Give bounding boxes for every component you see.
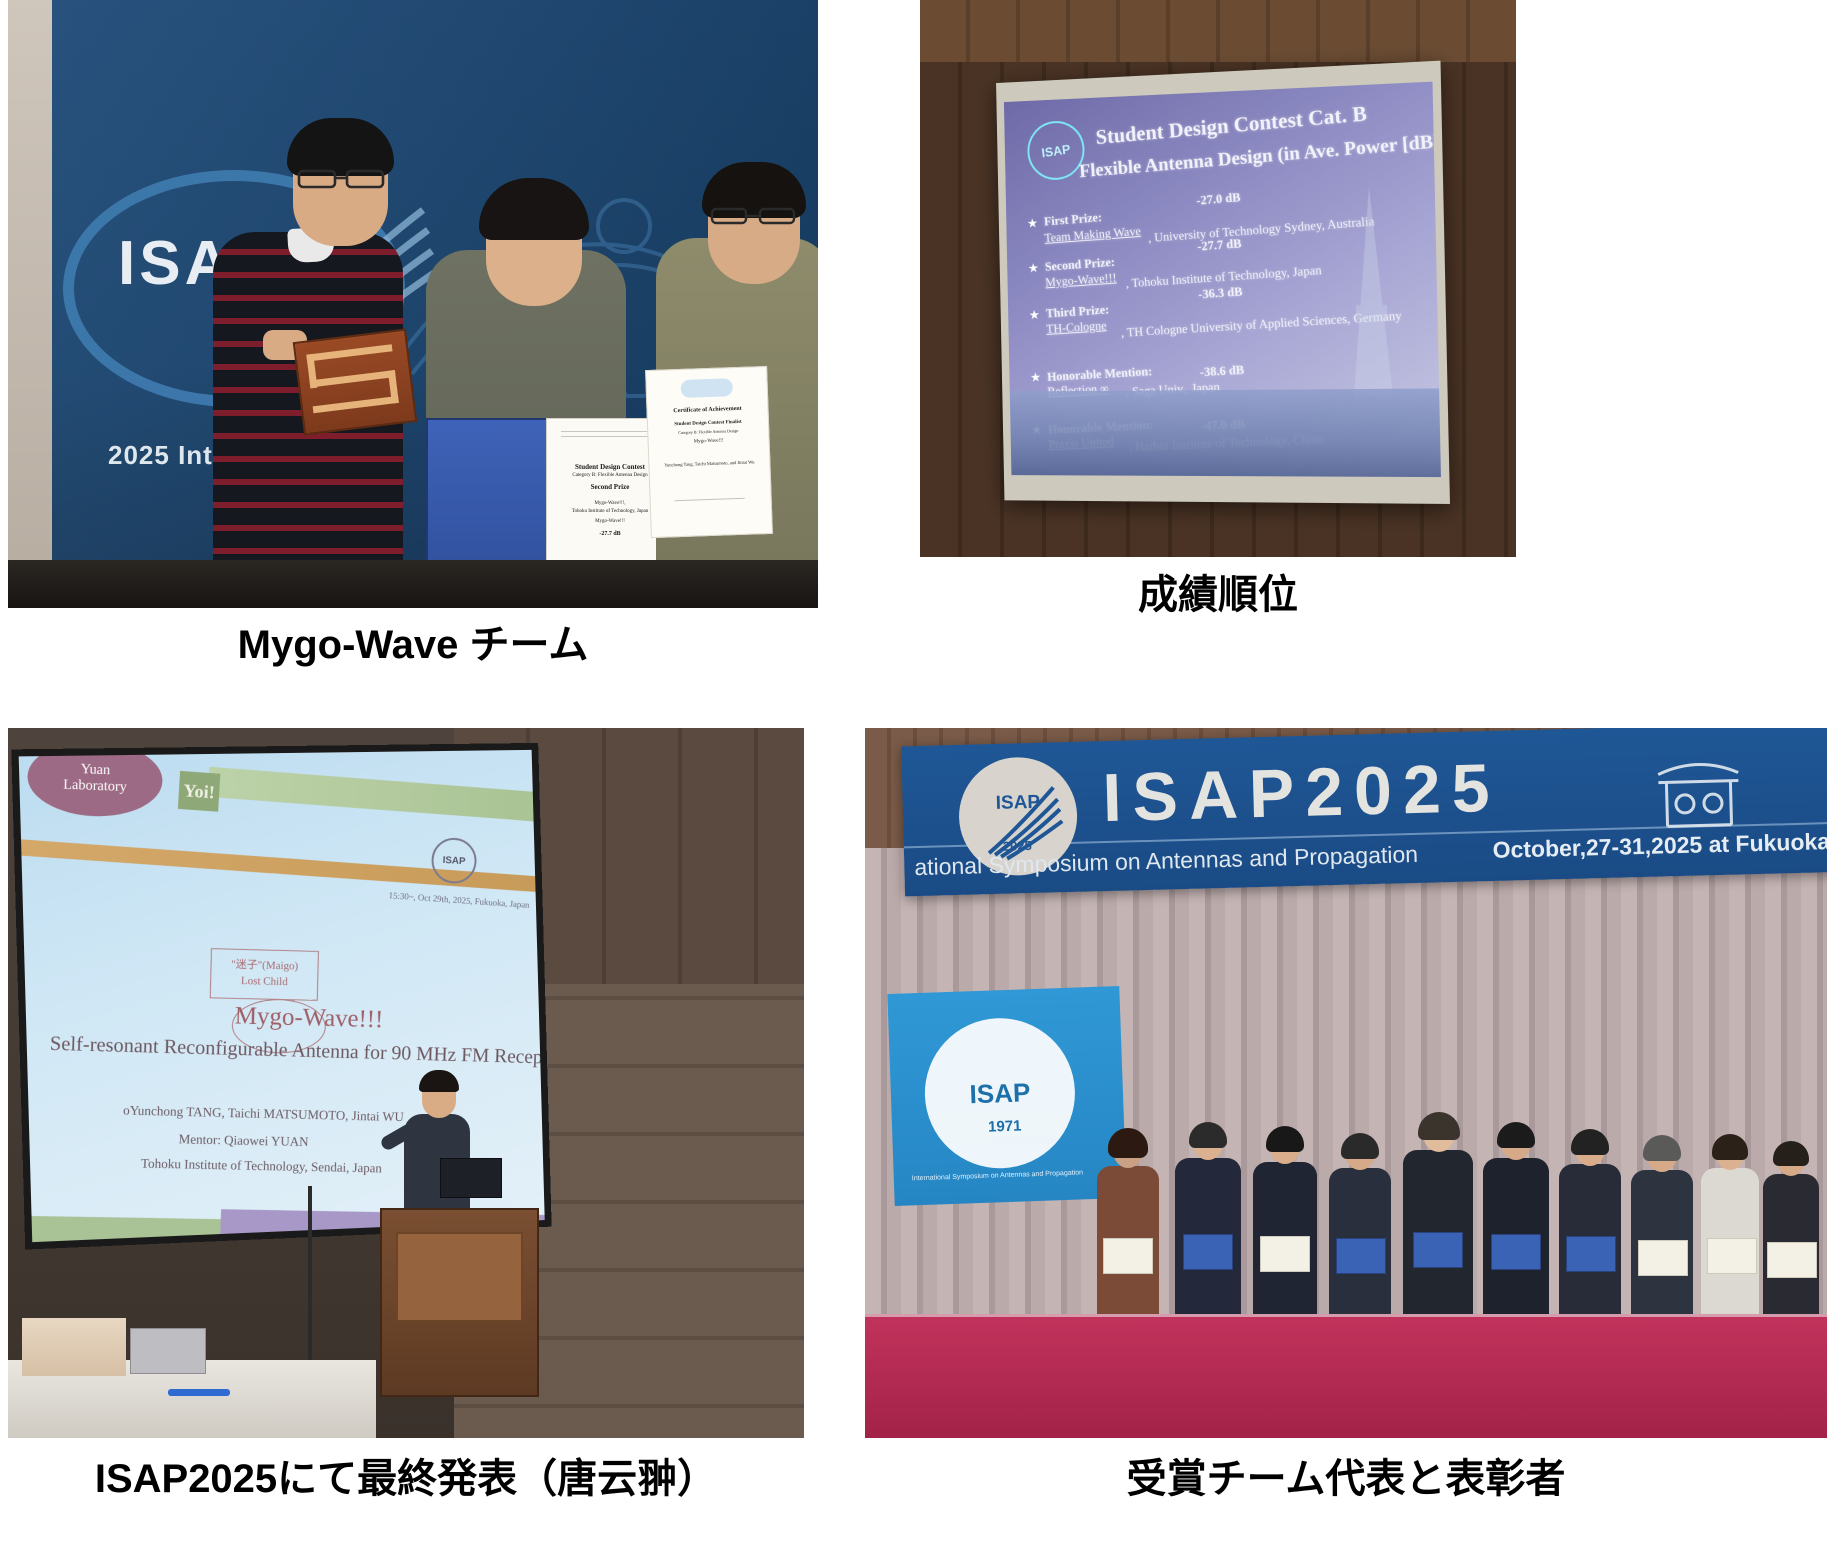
photo-results-projection: ISAP Student Design Contest Cat. B Flexi…	[920, 0, 1516, 557]
prize-1-value: -27.0 dB	[1196, 190, 1241, 208]
projection-screen: ISAP Student Design Contest Cat. B Flexi…	[996, 61, 1450, 504]
lab-name-line2: Laboratory	[63, 778, 127, 797]
slide-footer-green	[19, 1216, 252, 1243]
panel-presentation: Yuan Laboratory Yoi! ISAP 15:30~, Oct 29…	[8, 728, 804, 1548]
certificate-of-achievement: Certificate of Achievement Student Desig…	[645, 366, 773, 538]
isap-logo-icon: ISAP	[1024, 117, 1088, 184]
flexible-antenna-board	[293, 328, 418, 435]
slide-date-line: 15:30~, Oct 29th, 2025, Fukuoka, Japan	[389, 890, 530, 910]
eyeglasses-icon	[710, 206, 796, 226]
isap2025-banner: ISAP 2025 ISAP2025	[901, 728, 1827, 896]
isap-logo-text: ISAP	[442, 854, 465, 866]
podium-panel	[396, 1232, 523, 1322]
flag-logo-text: ISAP	[969, 1077, 1031, 1110]
table-laptop	[130, 1328, 206, 1374]
lab-name-line1: Yuan	[81, 762, 111, 779]
team-name: Mygo-Wave!!!	[234, 1002, 383, 1034]
caption-results-slide: 成績順位	[920, 562, 1516, 620]
caption-award-ceremony: 受賞チーム代表と表彰者	[865, 1446, 1827, 1504]
blue-object	[168, 1389, 230, 1396]
projection-screen-surface: ISAP Student Design Contest Cat. B Flexi…	[1004, 82, 1441, 477]
wood-ceiling-trim	[920, 0, 1516, 62]
photo-collage-grid: ISAP 2025 International	[0, 0, 1827, 1551]
yoi-logo-icon: Yoi!	[178, 771, 221, 812]
stage-floor	[865, 1314, 1827, 1438]
front-table	[8, 1360, 376, 1438]
yoi-logo-text: Yoi!	[183, 780, 215, 803]
maigo-line2: Lost Child	[241, 974, 288, 991]
wall-left	[8, 0, 52, 608]
prize-4-value: -38.6 dB	[1199, 363, 1244, 380]
star-icon: ★	[1027, 260, 1039, 276]
tripod-stand	[308, 1186, 312, 1366]
photo-award-ceremony: ISAP 2025 ISAP2025	[865, 728, 1827, 1438]
stage-edge-line	[865, 1314, 1827, 1317]
caption-presentation: ISAP2025にて最終発表（唐云翀）	[8, 1446, 804, 1504]
eyeglasses-icon	[297, 168, 385, 190]
floor	[8, 560, 818, 608]
maigo-line1: "迷子"(Maigo)	[231, 958, 298, 976]
star-icon: ★	[1027, 215, 1039, 231]
podium	[380, 1208, 539, 1397]
prize-2-value: -27.7 dB	[1197, 236, 1242, 254]
slide-authors: oYunchong TANG, Taichi MATSUMOTO, Jintai…	[123, 1102, 404, 1125]
cert-r-line-4: Mygo-Wave!!!	[649, 437, 769, 446]
city-photo-strip	[1010, 388, 1441, 477]
panel-team-photo: ISAP 2025 International	[8, 0, 818, 700]
banner-title: ISAP2025	[1102, 749, 1502, 837]
prize-3-team: TH-Cologne	[1046, 318, 1107, 336]
prize-3-value: -36.3 dB	[1198, 284, 1243, 302]
certificate-seal-icon	[680, 378, 733, 398]
cert-r-line-3: Category B: Flexible Antenna Design	[648, 427, 768, 436]
panel-award-ceremony: ISAP 2025 ISAP2025	[865, 728, 1827, 1548]
presenter-laptop	[440, 1158, 502, 1198]
slide-band-green	[208, 766, 545, 823]
caption-team-photo: Mygo-Wave チーム	[8, 612, 818, 670]
photo-final-presentation: Yuan Laboratory Yoi! ISAP 15:30~, Oct 29…	[8, 728, 804, 1438]
slide-affiliation: Tohoku Institute of Technology, Sendai, …	[141, 1155, 382, 1176]
isap-flag: ISAP 1971 International Symposium on Ant…	[887, 986, 1126, 1206]
panel-results-slide: ISAP Student Design Contest Cat. B Flexi…	[920, 0, 1516, 700]
foam-block	[22, 1318, 126, 1376]
photo-team-with-certificates: ISAP 2025 International	[8, 0, 818, 608]
banner-date: October,27-31,2025 at Fukuoka	[1492, 828, 1827, 864]
cert-r-line-1: Certificate of Achievement	[647, 405, 767, 415]
flag-logo-icon: ISAP	[922, 1016, 1077, 1171]
yuan-laboratory-logo: Yuan Laboratory	[27, 750, 164, 819]
slide-mentor: Mentor: Qiaowei YUAN	[178, 1131, 308, 1150]
flag-year: 1971	[988, 1118, 1022, 1136]
cert-r-line-5: Yunchong Tang, Taichi Matsumoto, and Jin…	[649, 459, 769, 468]
isap-logo-text: ISAP	[1041, 141, 1071, 160]
star-icon: ★	[1030, 370, 1042, 386]
maigo-callout-box: "迷子"(Maigo) Lost Child	[210, 948, 319, 1001]
star-icon: ★	[1028, 307, 1040, 323]
flag-subtitle: International Symposium on Antennas and …	[912, 1169, 1083, 1182]
